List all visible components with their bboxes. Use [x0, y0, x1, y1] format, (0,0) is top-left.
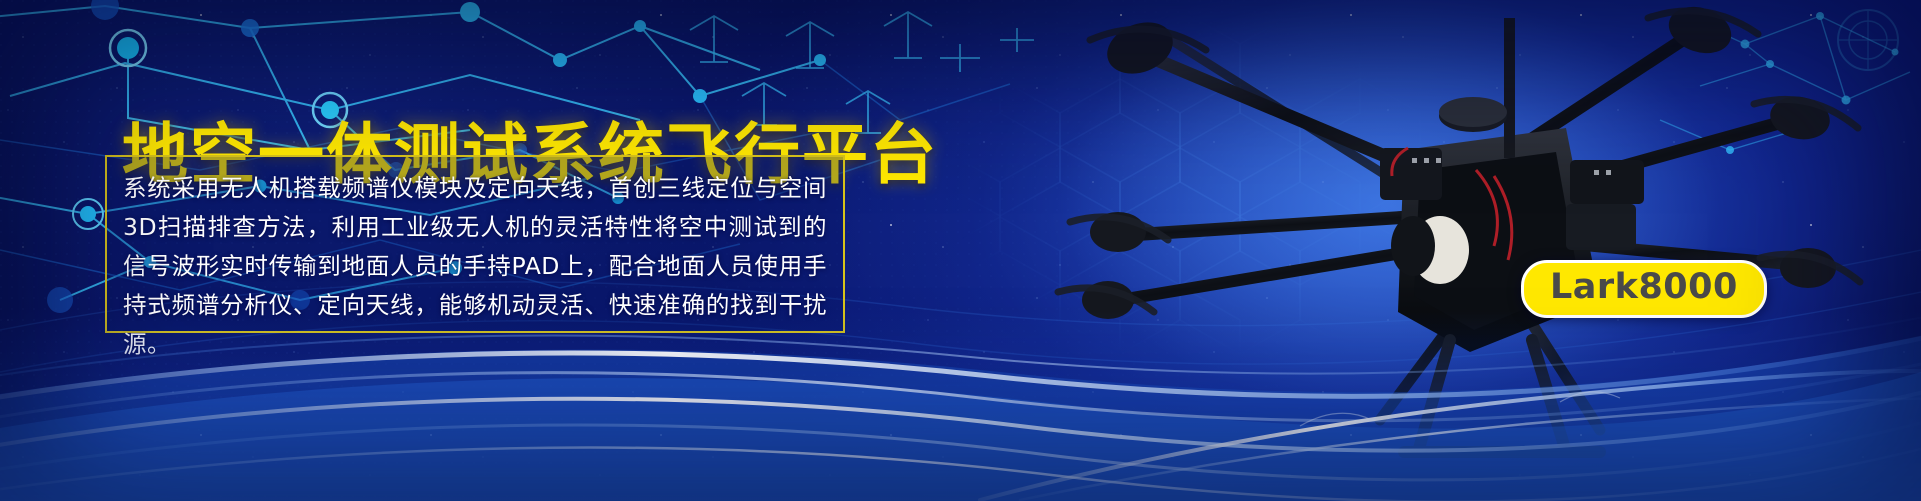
product-model-badge: Lark8000 — [1521, 260, 1767, 318]
description-box: 系统采用无人机搭载频谱仪模块及定向天线，首创三线定位与空间3D扫描排查方法，利用… — [105, 155, 845, 333]
description-text: 系统采用无人机搭载频谱仪模块及定向天线，首创三线定位与空间3D扫描排查方法，利用… — [123, 169, 827, 364]
promo-banner: 地空一体测试系统飞行平台 系统采用无人机搭载频谱仪模块及定向天线，首创三线定位与… — [0, 0, 1921, 501]
